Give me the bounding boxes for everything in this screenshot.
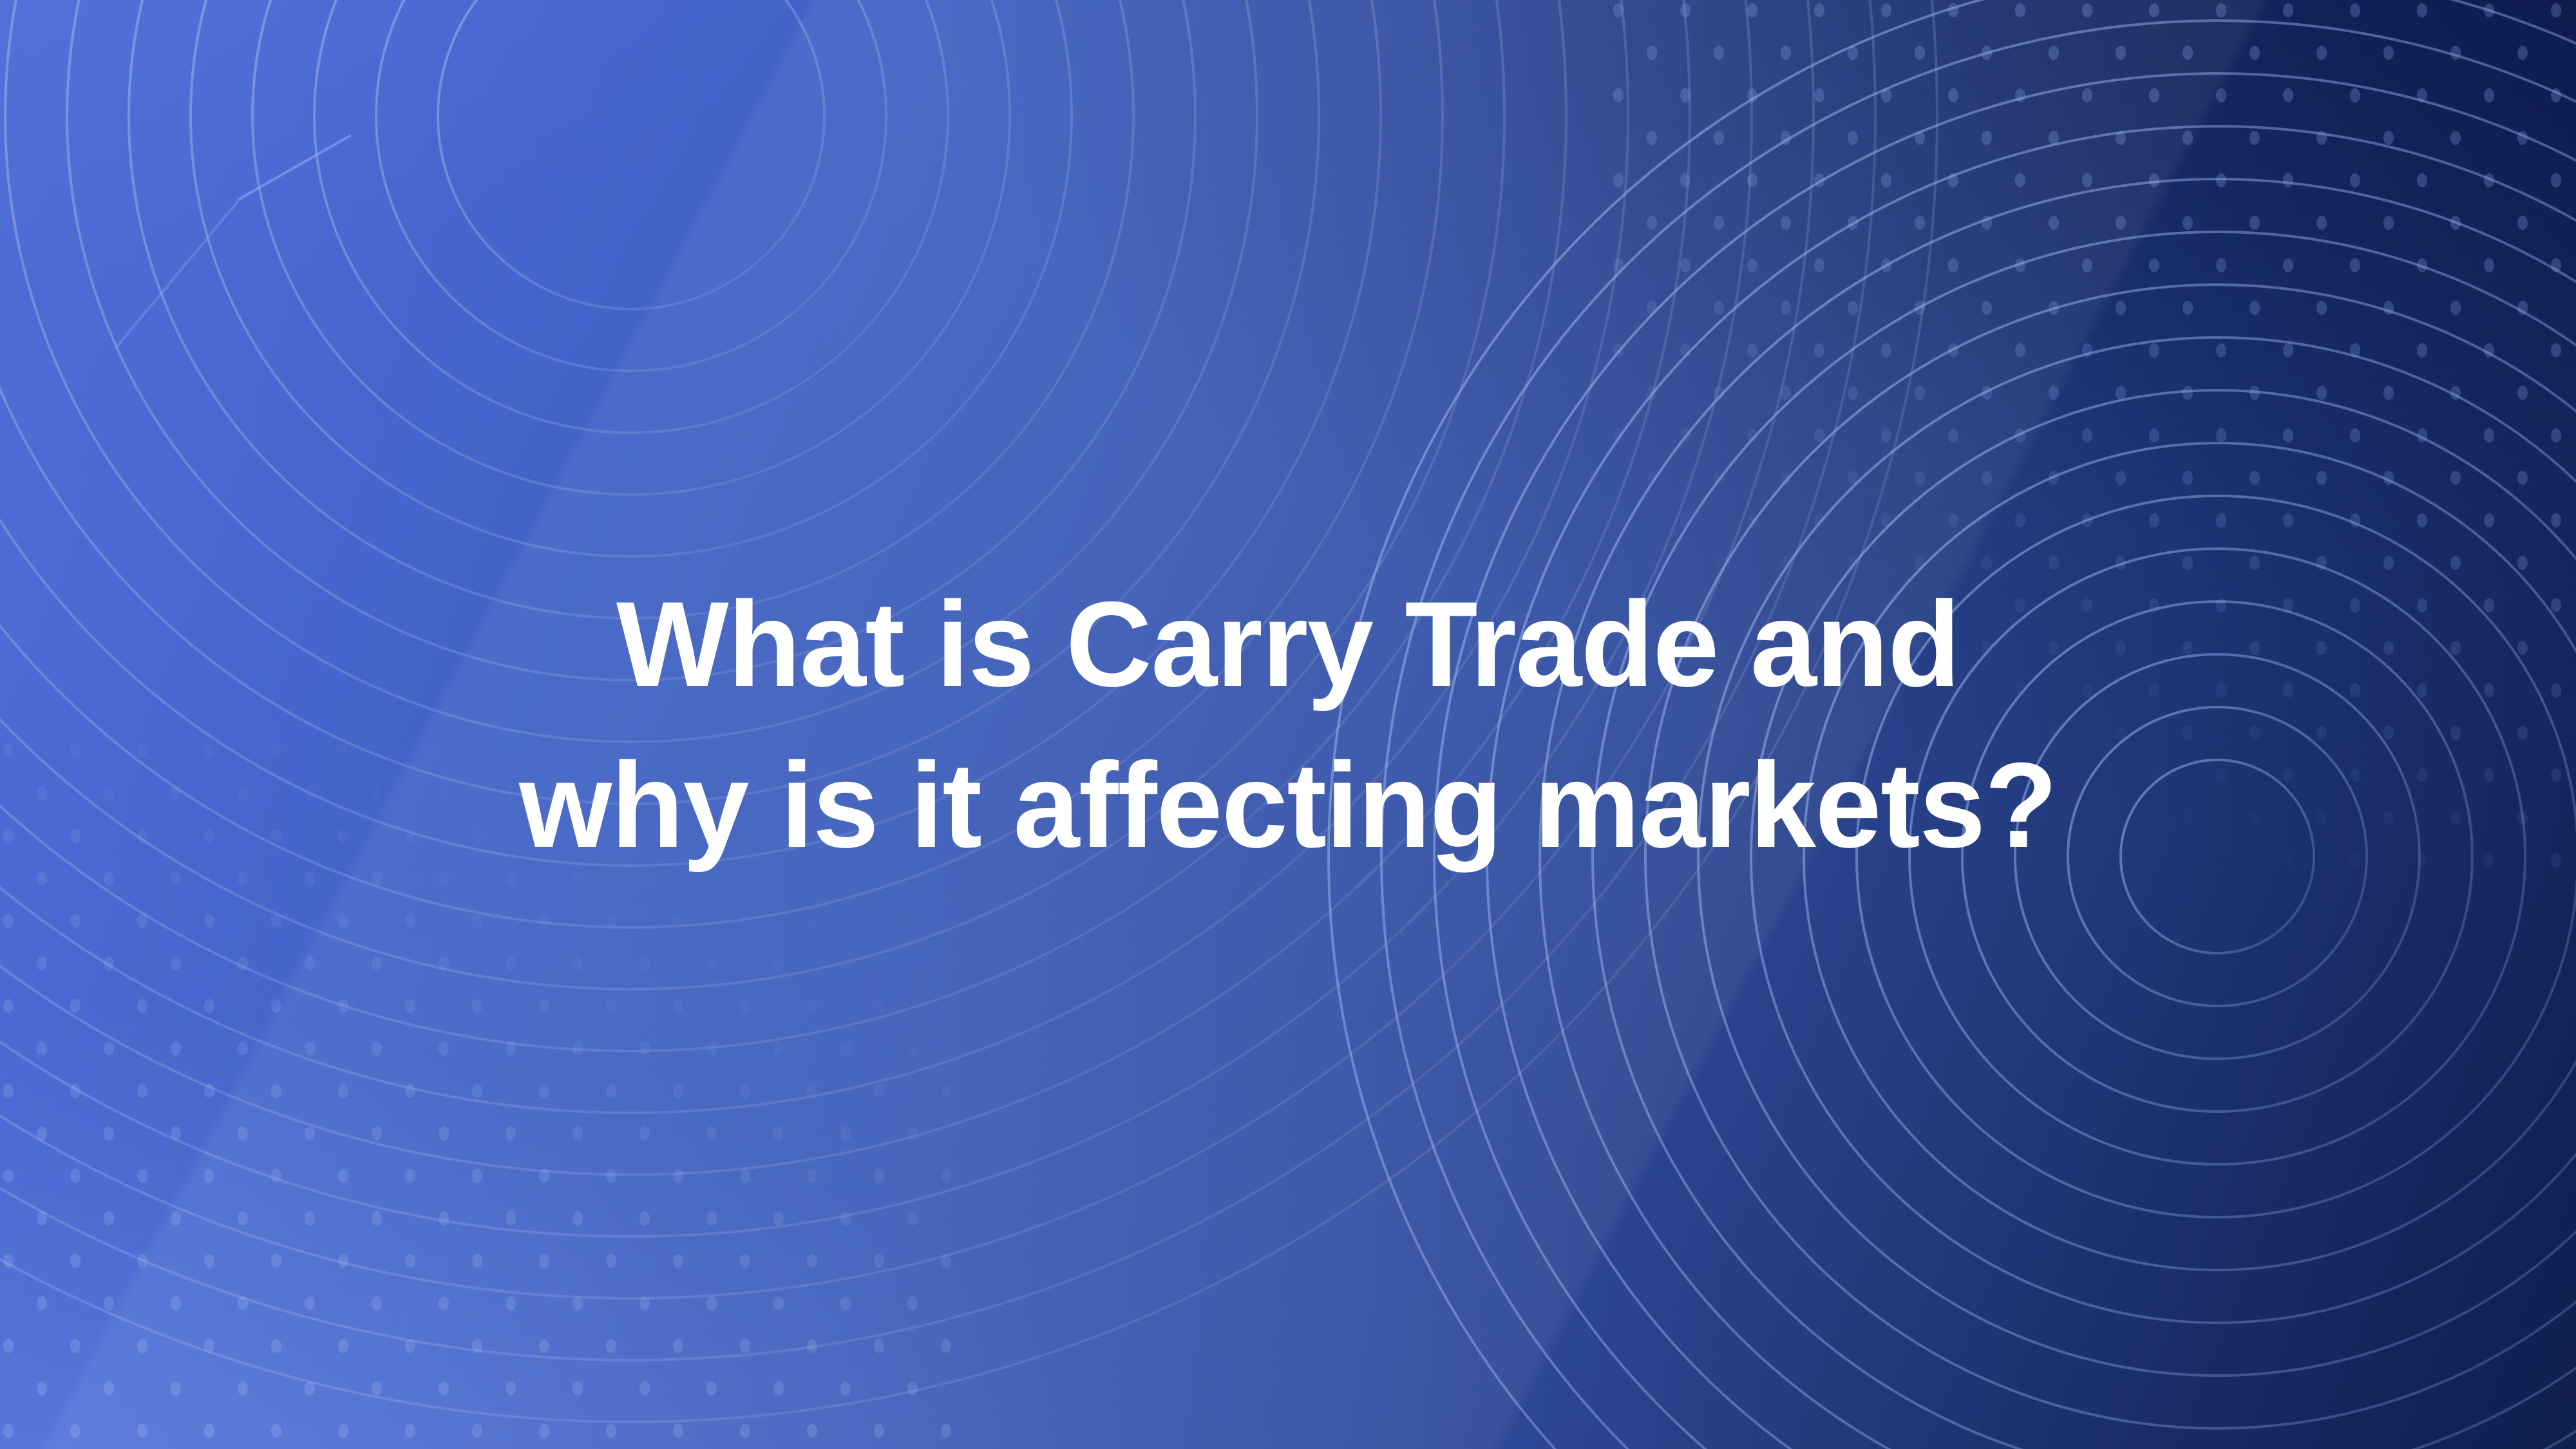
hero-banner: What is Carry Trade and why is it affect… (0, 0, 2576, 1449)
hero-title-line-1: What is Carry Trade and (616, 563, 1960, 724)
hero-title-line-2: why is it affecting markets? (519, 724, 2056, 885)
hero-title: What is Carry Trade and why is it affect… (0, 0, 2576, 1449)
